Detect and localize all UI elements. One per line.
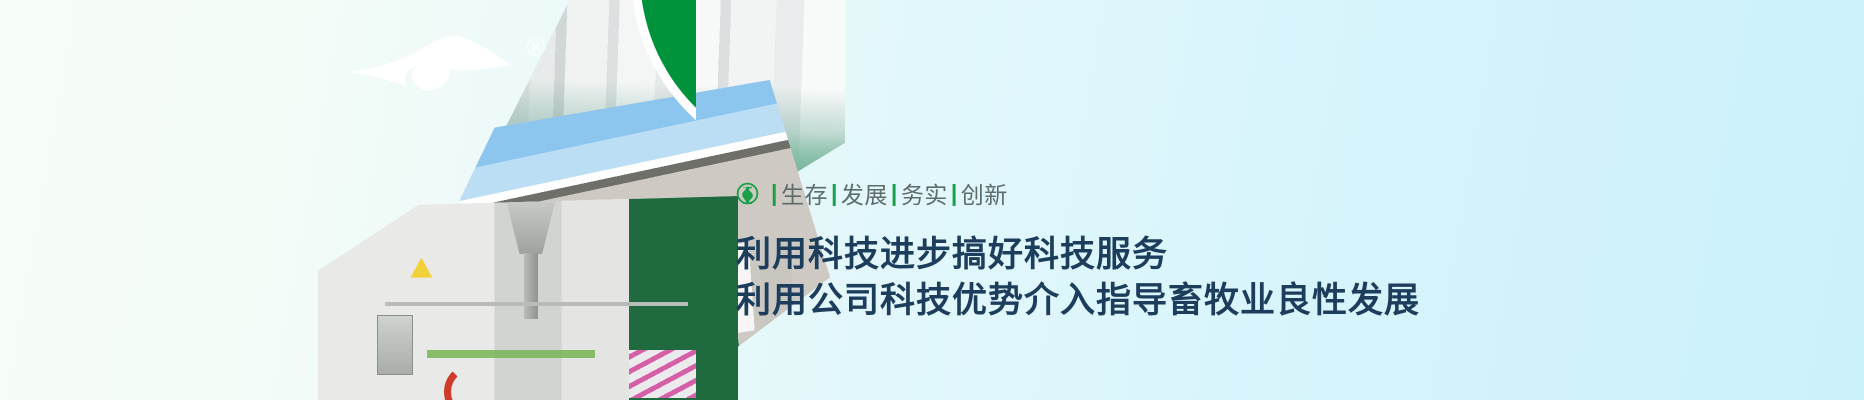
logo-badge [640,0,696,162]
machine-frame [385,302,687,306]
wave-bird-logomark-icon [350,34,510,96]
warning-label-icon [410,258,432,278]
machine-output-sachets [629,350,696,398]
tagline-word-2: 务实 [901,176,948,210]
machine-column [524,253,538,319]
tagline-word-1: 发展 [841,176,888,210]
banner-content: | 生存 | 发展 | 务实 | 创新 利用科技进步搞好科技服务 利用公司科技优… [736,176,1556,324]
tagline-words: | 生存 | 发展 | 务实 | 创新 [768,176,1008,210]
headline-line-2: 利用公司科技优势介入指导畜牧业良性发展 [736,278,1556,324]
machine-control-panel [377,315,413,375]
packaging-machine-photo [318,196,738,400]
green-circle-emblem-icon [736,182,759,205]
tagline: | 生存 | 发展 | 务实 | 创新 [736,176,1556,210]
headline-line-1: 利用科技进步搞好科技服务 [736,232,1556,278]
tagline-separator-1: | [831,180,838,207]
banner-headline: 利用科技进步搞好科技服务 利用公司科技优势介入指导畜牧业良性发展 [736,232,1556,324]
machine-hopper [503,200,559,254]
tagline-separator-2: | [891,180,898,207]
logo-badge-area: ® [320,0,696,186]
tagline-word-3: 创新 [961,176,1008,210]
hero-banner: ® | 生存 | 发展 | 务实 | 创新 利用科技进步搞好科技服务 利用公司科… [0,0,1864,400]
tagline-word-0: 生存 [781,176,828,210]
machine-hose [444,363,502,400]
tagline-separator-3: | [951,180,958,207]
tagline-separator-0: | [771,180,778,207]
registered-trademark-symbol: ® [526,34,546,60]
machine-conveyor [427,350,595,358]
